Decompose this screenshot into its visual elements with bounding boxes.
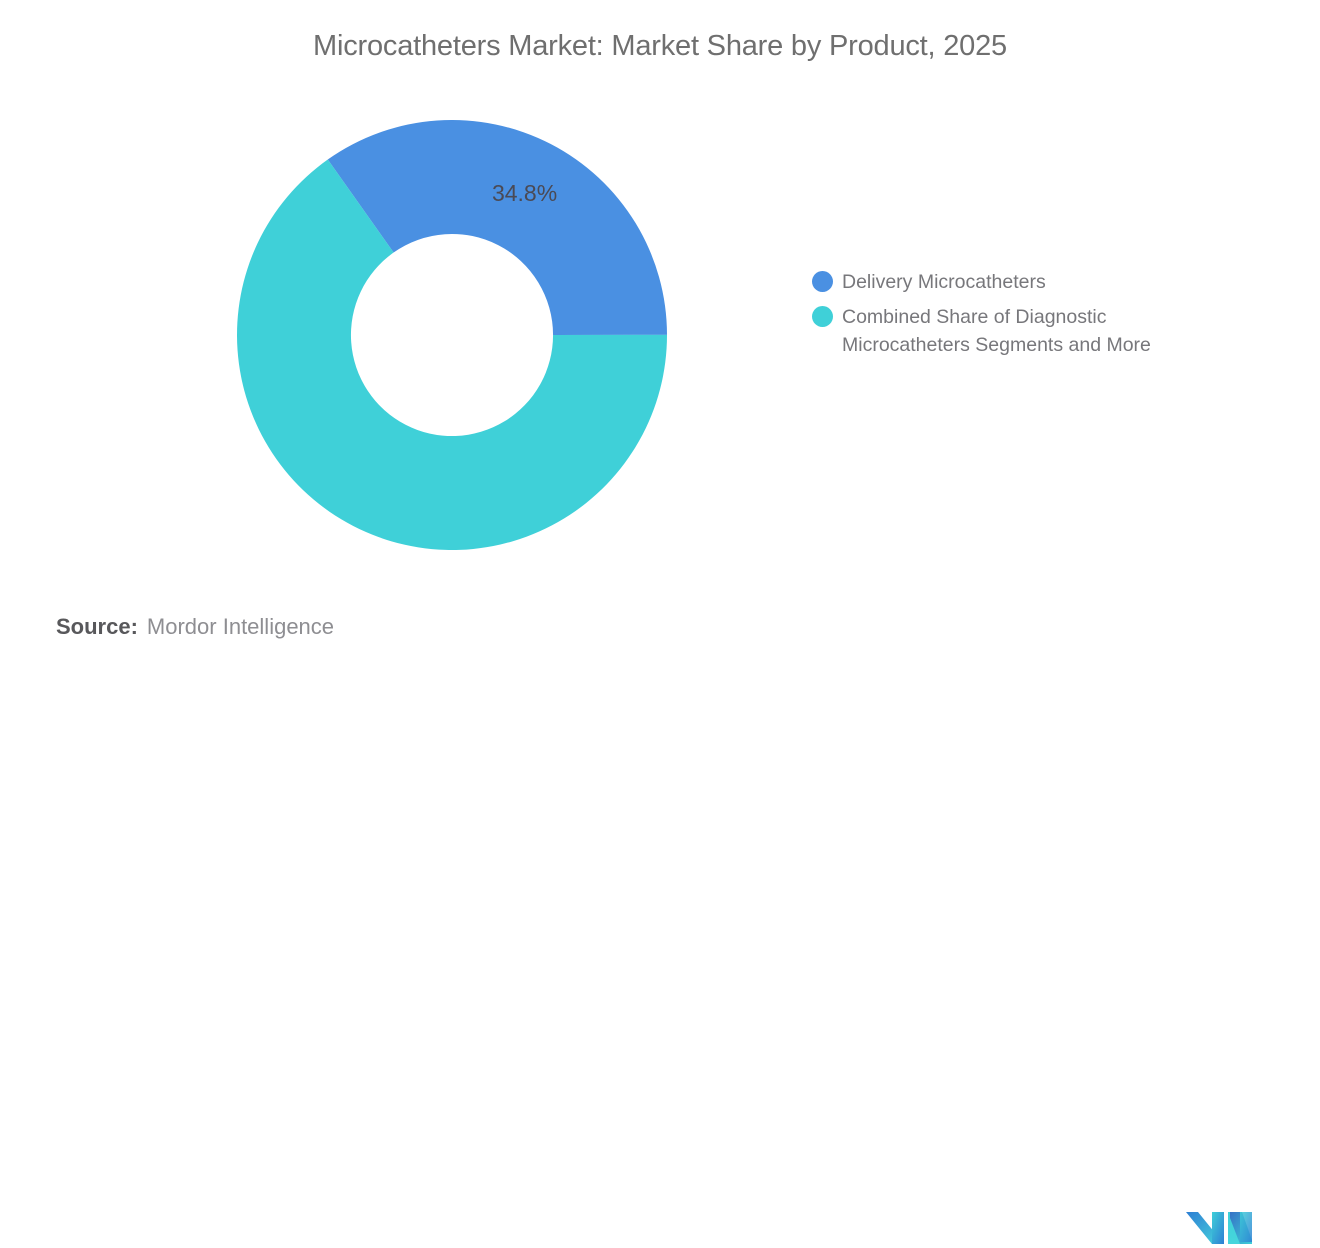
legend: Delivery Microcatheters Combined Share o… xyxy=(812,268,1242,366)
legend-item-label: Combined Share of Diagnostic Microcathet… xyxy=(842,303,1151,359)
page-title: Microcatheters Market: Market Share by P… xyxy=(0,30,1320,63)
donut-chart xyxy=(237,120,667,550)
donut-chart-svg xyxy=(237,120,667,550)
source-attribution: Source: Mordor Intelligence xyxy=(56,614,334,640)
legend-item-label: Delivery Microcatheters xyxy=(842,268,1046,296)
slice-value-label: 34.8% xyxy=(492,180,557,207)
source-label: Source: xyxy=(56,614,138,640)
legend-item-combined-share[interactable]: Combined Share of Diagnostic Microcathet… xyxy=(812,303,1242,359)
source-value: Mordor Intelligence xyxy=(147,614,334,640)
legend-swatch-icon xyxy=(812,306,833,327)
pie-slice-delivery-microcatheters[interactable] xyxy=(328,120,667,335)
footer: Source: Mordor Intelligence xyxy=(0,608,1320,658)
legend-swatch-icon xyxy=(812,271,833,292)
mordor-intelligence-logo-icon xyxy=(1184,1208,1254,1248)
legend-item-delivery-microcatheters[interactable]: Delivery Microcatheters xyxy=(812,268,1242,296)
